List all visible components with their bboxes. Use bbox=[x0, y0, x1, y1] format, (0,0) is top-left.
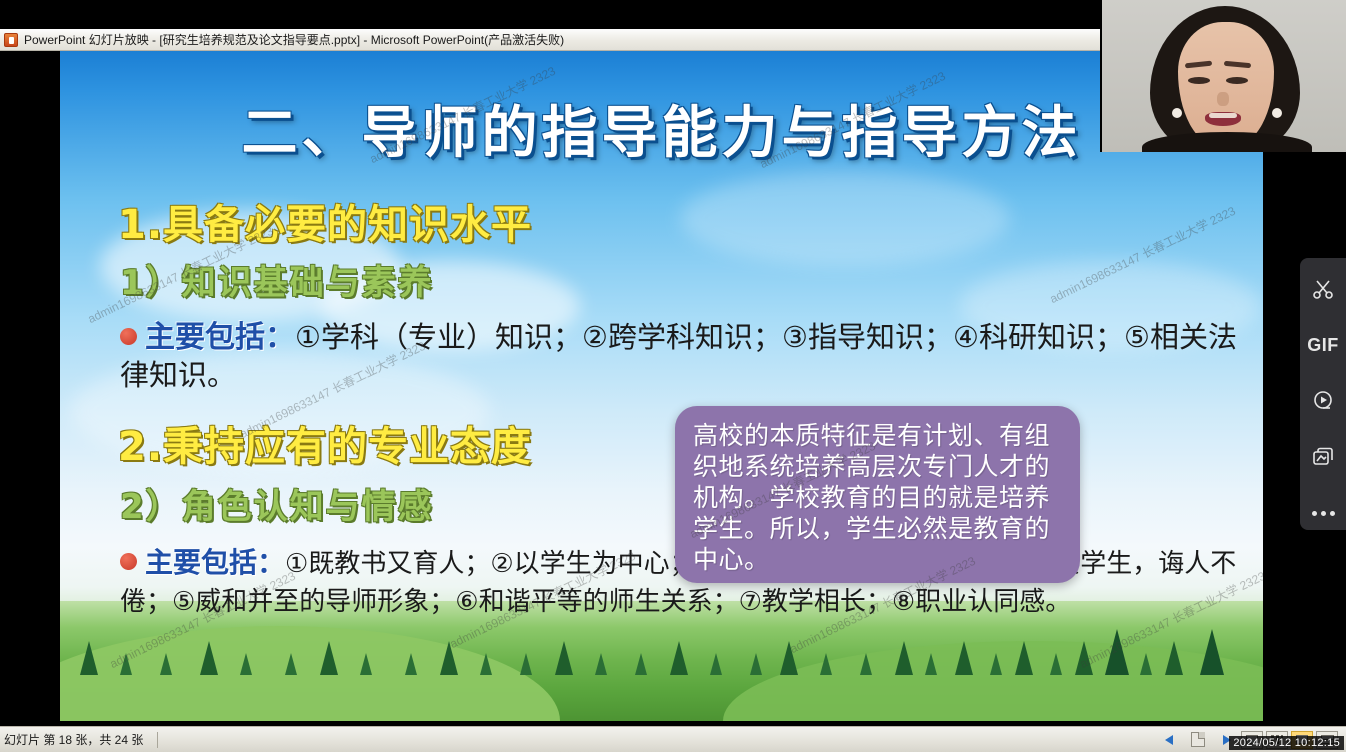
webcam-earring bbox=[1172, 108, 1182, 118]
record-icon[interactable] bbox=[1307, 386, 1339, 416]
scissors-icon[interactable] bbox=[1307, 274, 1339, 304]
bullet-dot-icon bbox=[120, 328, 137, 345]
webcam-eye bbox=[1226, 77, 1248, 84]
webcam-eye bbox=[1188, 77, 1210, 84]
slide-counter: 幻灯片 第 18 张，共 24 张 bbox=[0, 731, 143, 748]
bullet-block-1: 主要包括：①学科（专业）知识；②跨学科知识；③指导知识；④科研知识；⑤相关法律知… bbox=[120, 312, 1247, 395]
section1-heading: 1.具备必要的知识水平 bbox=[118, 192, 532, 250]
powerpoint-icon bbox=[4, 33, 18, 47]
bullet-2-label: 主要包括： bbox=[145, 546, 285, 579]
webcam-face bbox=[1178, 22, 1274, 146]
left-black-bar bbox=[0, 51, 60, 721]
previous-slide-button[interactable] bbox=[1165, 735, 1173, 745]
screenshot-icon[interactable] bbox=[1307, 442, 1339, 472]
top-black-bar bbox=[0, 0, 1100, 29]
more-options-icon[interactable] bbox=[1307, 498, 1339, 528]
status-divider bbox=[157, 732, 158, 748]
status-bar: 幻灯片 第 18 张，共 24 张 bbox=[0, 726, 1346, 752]
section1-subheading: 1）知识基础与素养 bbox=[120, 255, 434, 304]
section2-subheading: 2）角色认知与情感 bbox=[120, 479, 434, 528]
webcam-teeth bbox=[1209, 113, 1237, 118]
section2-heading: 2.秉持应有的专业态度 bbox=[118, 414, 532, 472]
bullet-1-label: 主要包括： bbox=[145, 320, 295, 355]
window-title: PowerPoint 幻灯片放映 - [研究生培养规范及论文指导要点.pptx]… bbox=[24, 31, 564, 48]
cloud-decoration bbox=[680, 171, 1010, 266]
slide-canvas[interactable]: 二、导师的指导能力与指导方法 1.具备必要的知识水平 1）知识基础与素养 主要包… bbox=[60, 51, 1263, 721]
gif-icon[interactable]: GIF bbox=[1307, 330, 1339, 360]
presenter-webcam[interactable] bbox=[1100, 0, 1346, 152]
screen-root: PowerPoint 幻灯片放映 - [研究生培养规范及论文指导要点.pptx]… bbox=[0, 0, 1346, 752]
callout-box: 高校的本质特征是有计划、有组织地系统培养高层次专门人才的机构。学校教育的目的就是… bbox=[675, 406, 1080, 583]
webcam-earring bbox=[1272, 108, 1282, 118]
recording-toolbar: GIF bbox=[1300, 258, 1346, 530]
pointer-options-button[interactable] bbox=[1191, 732, 1205, 747]
recording-timestamp: 2024/05/12 10:12:15 bbox=[1229, 736, 1344, 750]
bullet-dot-icon bbox=[120, 553, 137, 570]
slide-title: 二、导师的指导能力与指导方法 bbox=[60, 88, 1263, 169]
webcam-nose bbox=[1217, 92, 1229, 106]
